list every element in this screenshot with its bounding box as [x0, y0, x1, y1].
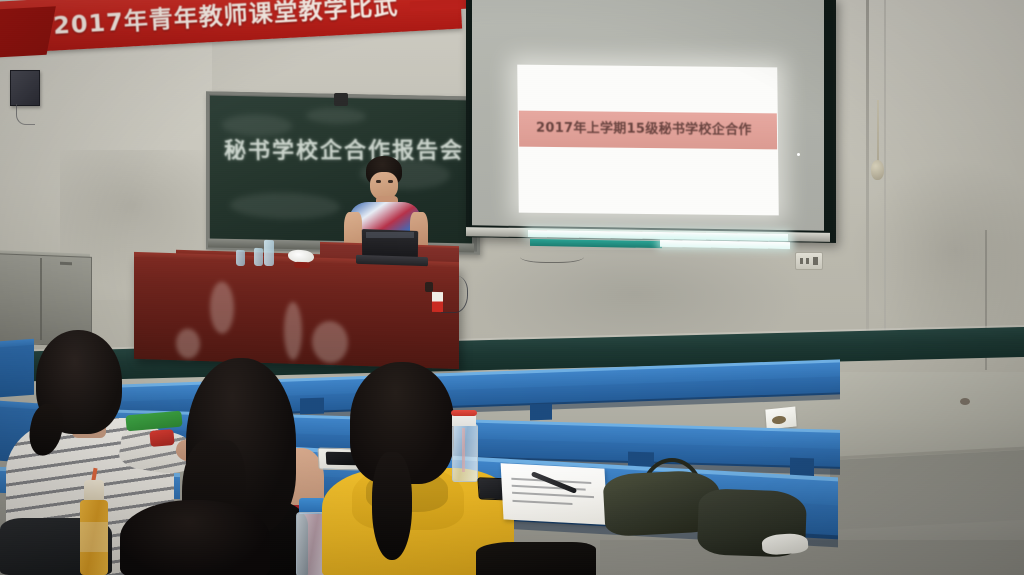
pull-cord[interactable]	[877, 100, 879, 162]
cabinet-door-seam	[40, 258, 42, 340]
water-bottle	[254, 248, 263, 266]
podium-scuff	[210, 281, 234, 334]
wall-outlet[interactable]	[795, 252, 823, 270]
wall-stain	[850, 160, 1024, 340]
drink-bottle-cap	[84, 480, 104, 502]
teacher-eye	[376, 180, 381, 183]
podium-port	[425, 282, 433, 292]
student-partial-arm	[476, 542, 596, 575]
student-yellow-hoodie-ponytail	[372, 452, 412, 560]
chalk-smudge	[306, 107, 366, 124]
blackboard-chalk-text: 秘书学校企合作报告会	[224, 133, 475, 167]
podium-cable	[441, 276, 468, 313]
desk-item-red	[149, 429, 174, 447]
drink-bottle-label	[80, 522, 108, 552]
podium-item-red	[294, 262, 310, 268]
sport-bottle-ring	[451, 410, 477, 416]
chalk-smudge	[230, 192, 340, 220]
water-bottle	[236, 250, 245, 266]
shoe	[761, 532, 808, 555]
outlet-slot	[806, 258, 809, 264]
screen-highlight-dot	[797, 153, 800, 156]
podium-scuff	[176, 328, 200, 359]
podium	[134, 257, 459, 369]
podium-scuff	[312, 320, 348, 363]
notebook-line	[512, 500, 572, 505]
floor-debris	[960, 398, 970, 405]
speaker-wire	[16, 104, 35, 125]
outlet-slot	[813, 257, 818, 265]
blackboard-clip	[334, 93, 348, 106]
open-notebook	[501, 463, 608, 525]
teacher-eye	[388, 180, 393, 183]
laptop-screen-glow	[366, 232, 414, 238]
podium-scuff	[284, 302, 302, 361]
slide-title-text: 2017年上学期15级秘书学校企合作	[536, 117, 786, 139]
bench-leg	[300, 398, 324, 415]
bench-leg	[530, 404, 552, 421]
blackboard-surface	[210, 95, 472, 246]
bench-row	[0, 345, 34, 397]
sport-bottle	[452, 424, 478, 482]
projector-cable	[520, 248, 584, 263]
notebook-line	[512, 492, 594, 498]
wall-pillar-seam	[884, 0, 886, 355]
student-dark-head	[120, 500, 270, 575]
cabinet-handle[interactable]	[60, 262, 72, 265]
floor-shadow	[830, 450, 1024, 530]
outlet-slot	[800, 258, 803, 264]
wall-pillar-seam	[866, 0, 869, 360]
wall-speaker-icon	[10, 70, 40, 106]
classroom-photo: 2017年青年教师课堂教学比武 秘书学校企合作报告会 2017年上学期15级秘书…	[0, 0, 1024, 575]
pull-cord-knob[interactable]	[871, 160, 884, 180]
water-bottle	[264, 240, 274, 266]
